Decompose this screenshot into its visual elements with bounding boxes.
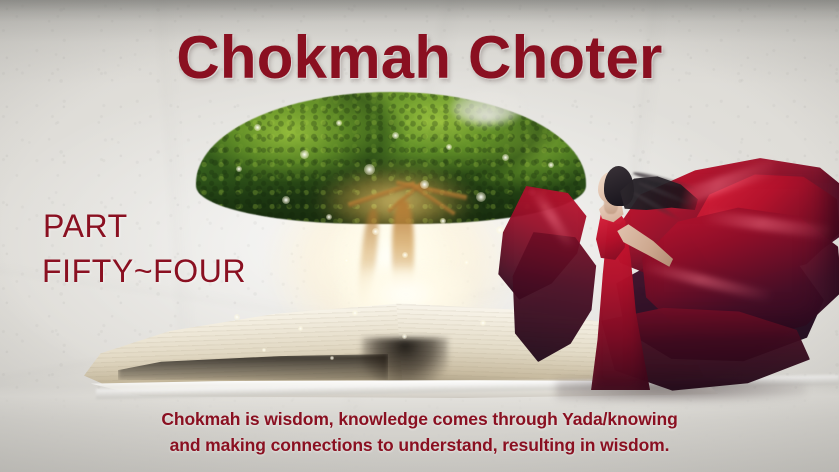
page-title: Chokmah Choter <box>0 23 839 92</box>
caption-block: Chokmah is wisdom, knowledge comes throu… <box>0 406 839 458</box>
part-label: PART <box>43 208 128 245</box>
caption-line-1: Chokmah is wisdom, knowledge comes throu… <box>0 406 839 432</box>
presentation-slide: Chokmah Choter PART FIFTY~FOUR Chokmah i… <box>0 0 839 472</box>
part-number: FIFTY~FOUR <box>42 253 246 290</box>
caption-line-2: and making connections to understand, re… <box>0 432 839 458</box>
